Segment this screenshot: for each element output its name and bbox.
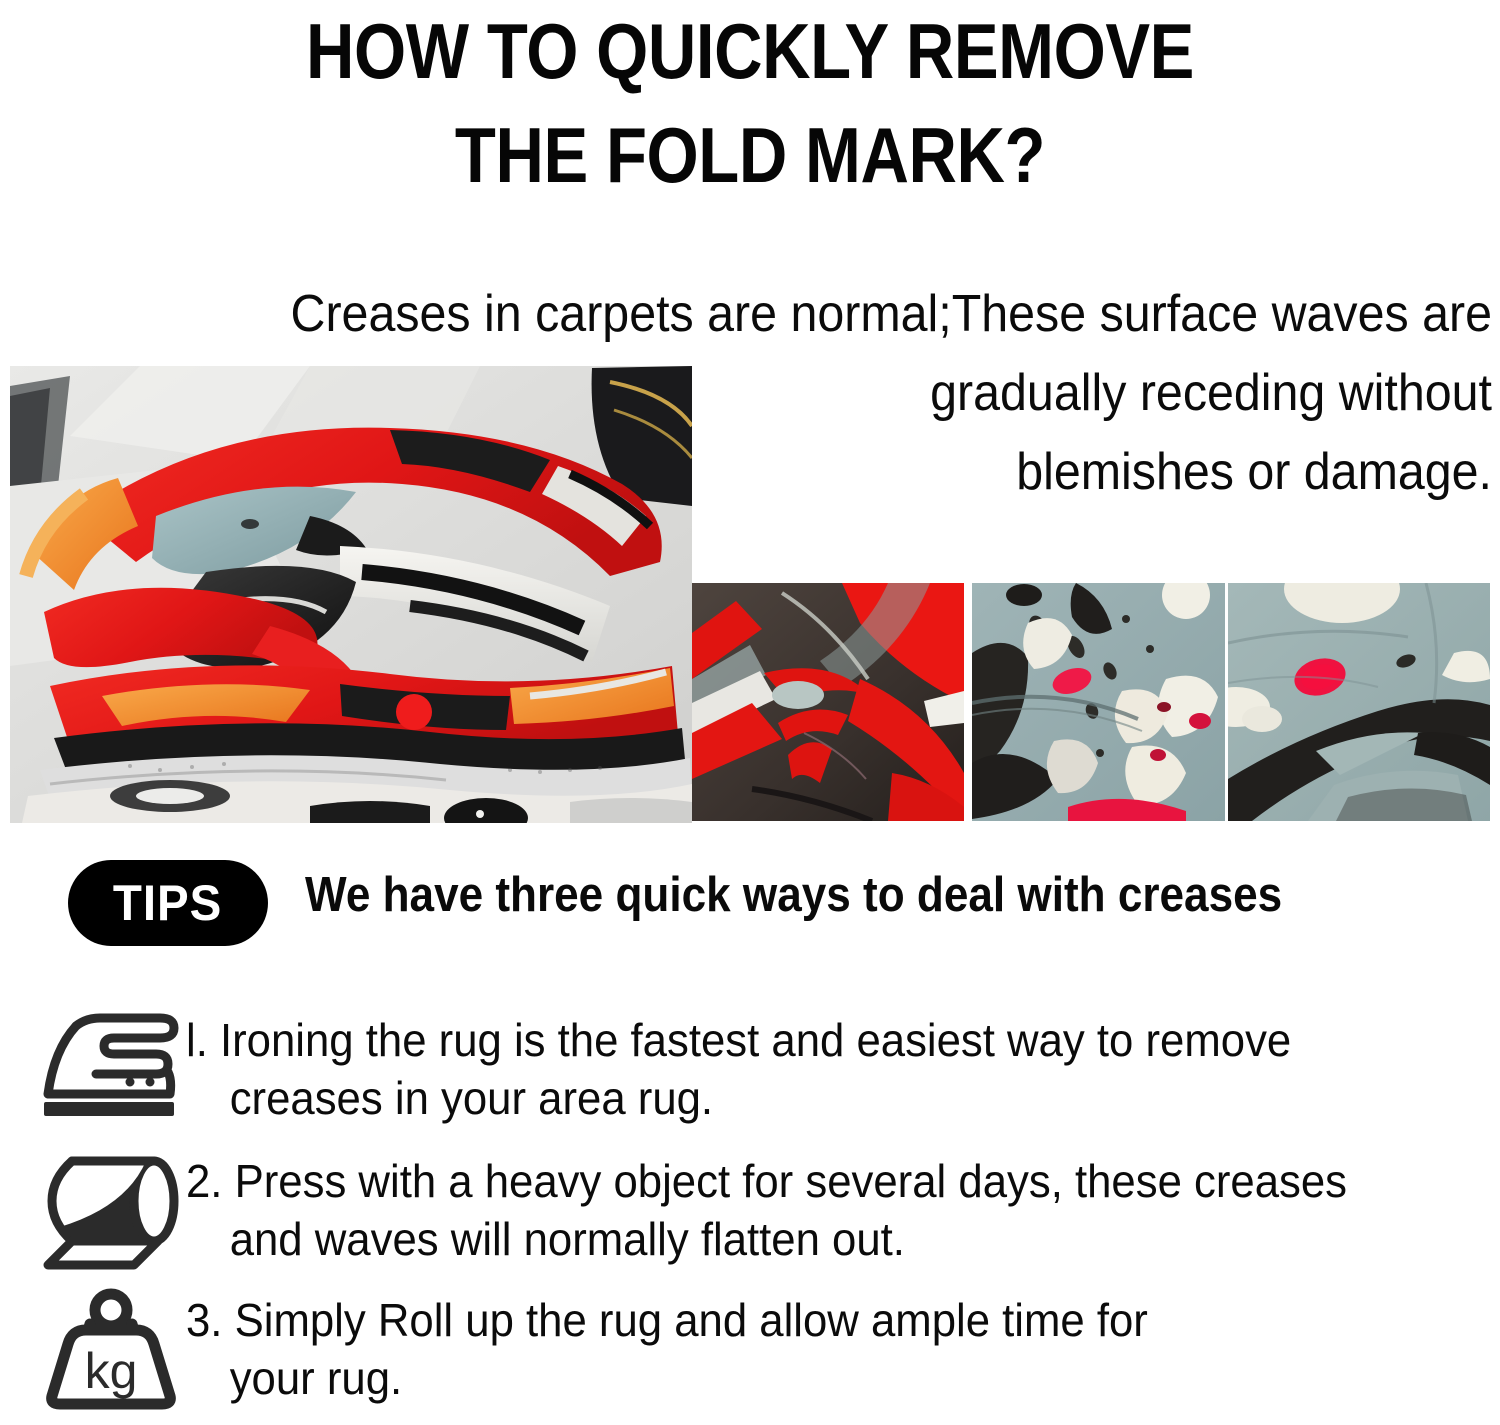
step-1-line-1: l. Ironing the rug is the fastest and ea… xyxy=(186,1012,1415,1070)
steps-list: l. Ironing the rug is the fastest and ea… xyxy=(0,1008,1500,1425)
status-badge: TIPS xyxy=(68,860,268,946)
tips-badge-label: TIPS xyxy=(113,874,222,932)
rug-closeup-red-black xyxy=(692,583,964,821)
list-item: l. Ironing the rug is the fastest and ea… xyxy=(0,1008,1500,1133)
title-line-2: THE FOLD MARK? xyxy=(105,104,1395,208)
kg-weight-icon-glyph: kg xyxy=(38,1288,184,1410)
list-item: kg 3. Simply Roll up the rug and allow a… xyxy=(0,1286,1500,1411)
step-2-line-2: and waves will normally flatten out. xyxy=(186,1211,1415,1269)
page-title: HOW TO QUICKLY REMOVE THE FOLD MARK? xyxy=(105,0,1395,207)
rug-closeup-thumbnails xyxy=(692,583,1492,821)
step-2-text: 2. Press with a heavy object for several… xyxy=(186,1147,1434,1268)
rug-closeup-teal-black-swoosh-artwork xyxy=(1228,583,1490,821)
intro-paragraph: Creases in carpets are normal;These surf… xyxy=(142,275,1492,512)
step-3-line-2: your rug. xyxy=(186,1350,1415,1408)
step-1-text: l. Ironing the rug is the fastest and ea… xyxy=(186,1008,1434,1127)
rug-roll-icon-glyph xyxy=(38,1149,184,1271)
step-3-line-1: 3. Simply Roll up the rug and allow ampl… xyxy=(186,1292,1415,1350)
list-item: 2. Press with a heavy object for several… xyxy=(0,1147,1500,1272)
rug-closeup-teal-white-dots xyxy=(972,583,1225,821)
title-line-1: HOW TO QUICKLY REMOVE xyxy=(105,0,1395,104)
tips-heading: We have three quick ways to deal with cr… xyxy=(305,867,1282,923)
iron-icon xyxy=(36,1008,186,1133)
infographic-page: HOW TO QUICKLY REMOVE THE FOLD MARK? Cre… xyxy=(0,0,1500,1413)
intro-line-2: gradually receding without xyxy=(142,354,1492,433)
rug-closeup-teal-black-swoosh xyxy=(1228,583,1490,821)
step-2-line-1: 2. Press with a heavy object for several… xyxy=(186,1153,1415,1211)
rug-closeup-teal-white-dots-artwork xyxy=(972,583,1225,821)
kg-weight-icon: kg xyxy=(36,1286,186,1411)
tips-row: TIPS We have three quick ways to deal wi… xyxy=(0,855,1500,955)
intro-line-1: Creases in carpets are normal;These surf… xyxy=(142,275,1492,354)
step-1-line-2: creases in your area rug. xyxy=(186,1070,1415,1128)
step-3-text: 3. Simply Roll up the rug and allow ampl… xyxy=(186,1286,1434,1407)
svg-text:kg: kg xyxy=(85,1343,138,1399)
rug-closeup-red-black-artwork xyxy=(692,583,964,821)
intro-line-3: blemishes or damage. xyxy=(142,433,1492,512)
rug-roll-icon xyxy=(36,1147,186,1272)
iron-icon-glyph xyxy=(38,1010,184,1132)
